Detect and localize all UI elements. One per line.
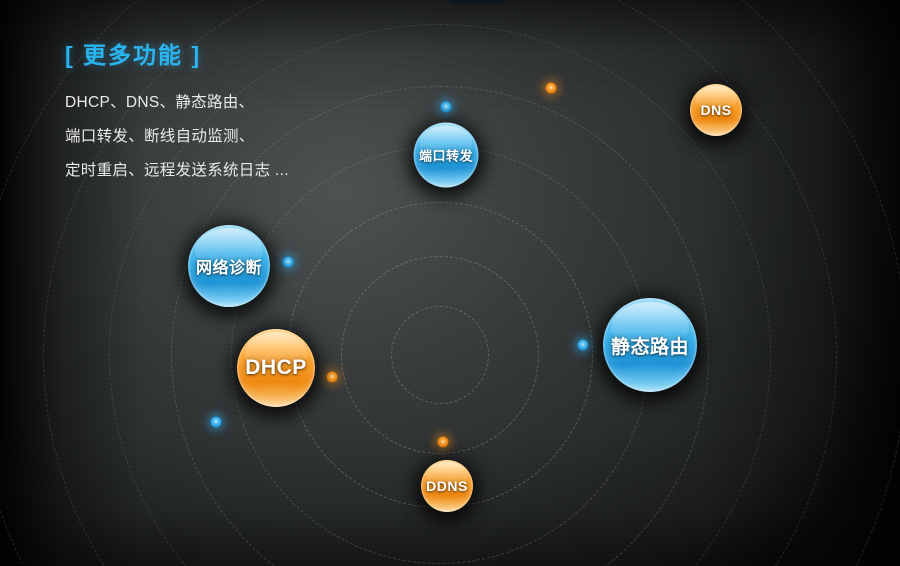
feature-bubble-label: 网络诊断	[196, 254, 262, 278]
feature-bubble-3[interactable]: 网络诊断	[188, 225, 270, 307]
top-edge-artifact	[450, 0, 502, 4]
glow-dot-blue-6	[211, 417, 222, 428]
feature-bubble-4[interactable]: 静态路由	[603, 298, 697, 392]
orbit-ring-1	[391, 306, 489, 404]
feature-bubble-1[interactable]: 端口转发	[414, 123, 479, 188]
orbit-ring-2	[341, 256, 539, 454]
glow-dot-orange-2	[546, 83, 557, 94]
feature-bubble-5[interactable]: DHCP	[237, 329, 315, 407]
glow-dot-orange-7	[438, 437, 449, 448]
feature-bubble-2[interactable]: DNS	[690, 84, 742, 136]
feature-line-1: DHCP、DNS、静态路由、	[65, 86, 365, 120]
feature-bubble-label: DHCP	[245, 356, 307, 380]
feature-bubble-6[interactable]: DDNS	[421, 460, 473, 512]
feature-bubble-label: 端口转发	[419, 146, 473, 165]
glow-dot-blue-5	[578, 340, 589, 351]
feature-line-3: 定时重启、远程发送系统日志 ...	[65, 154, 365, 188]
feature-line-2: 端口转发、断线自动监测、	[65, 120, 365, 154]
page-title: [ 更多功能 ]	[65, 36, 365, 70]
glow-dot-orange-4	[327, 372, 338, 383]
feature-bubble-label: 静态路由	[611, 332, 689, 359]
glow-dot-blue-3	[283, 257, 294, 268]
feature-bubble-label: DNS	[700, 102, 731, 118]
feature-bubble-label: DDNS	[426, 478, 468, 494]
glow-dot-blue-1	[441, 102, 452, 113]
text-block: [ 更多功能 ] DHCP、DNS、静态路由、 端口转发、断线自动监测、 定时重…	[65, 36, 365, 188]
feature-diagram-canvas: 端口转发DNS网络诊断静态路由DHCPDDNS [ 更多功能 ] DHCP、DN…	[0, 0, 900, 566]
